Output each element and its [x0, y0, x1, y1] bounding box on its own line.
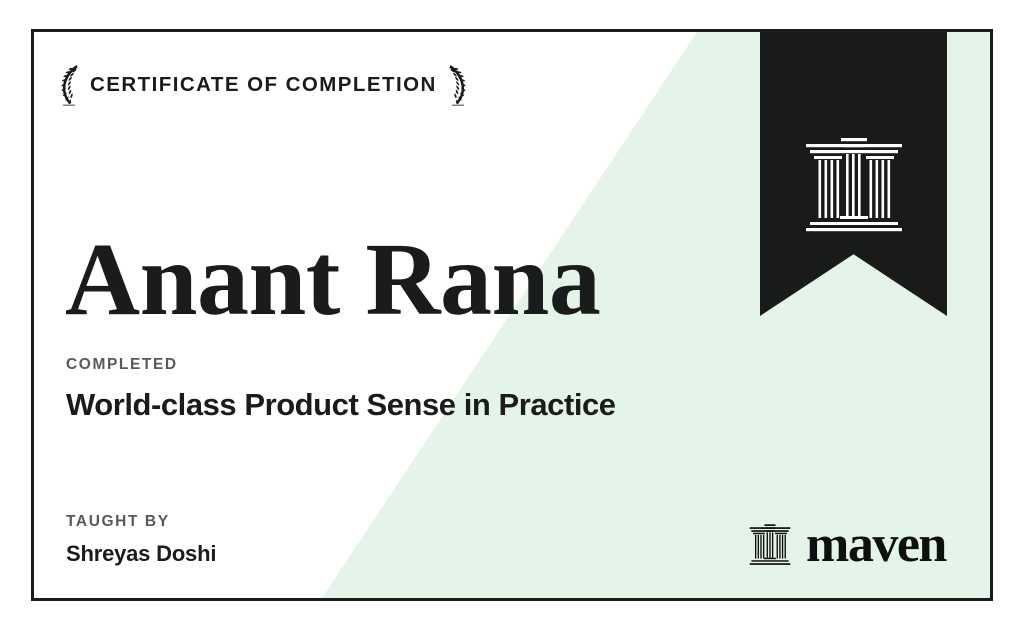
completed-block: COMPLETED World-class Product Sense in P… — [66, 357, 616, 422]
maven-logo-lockup: maven — [748, 519, 946, 571]
completed-label: COMPLETED — [66, 357, 616, 373]
certificate-card: CERTIFICATE OF COMPLETION — [31, 29, 993, 601]
maven-wordmark: maven — [806, 519, 946, 571]
certificate-eyebrow: CERTIFICATE OF COMPLETION — [59, 63, 468, 107]
certificate-eyebrow-label: CERTIFICATE OF COMPLETION — [90, 75, 437, 96]
course-title: World-class Product Sense in Practice — [66, 388, 616, 422]
laurel-branch-left-icon — [59, 63, 81, 107]
recipient-name: Anant Rana — [65, 228, 600, 332]
certificate-stage: CERTIFICATE OF COMPLETION — [0, 0, 1024, 630]
maven-columns-icon — [748, 523, 792, 567]
certificate-banner — [760, 29, 947, 316]
classical-columns-icon — [802, 134, 906, 238]
instructor-name: Shreyas Doshi — [66, 543, 216, 565]
taught-by-label: TAUGHT BY — [66, 514, 216, 530]
taught-by-block: TAUGHT BY Shreyas Doshi — [66, 514, 216, 565]
laurel-branch-right-icon — [446, 63, 468, 107]
